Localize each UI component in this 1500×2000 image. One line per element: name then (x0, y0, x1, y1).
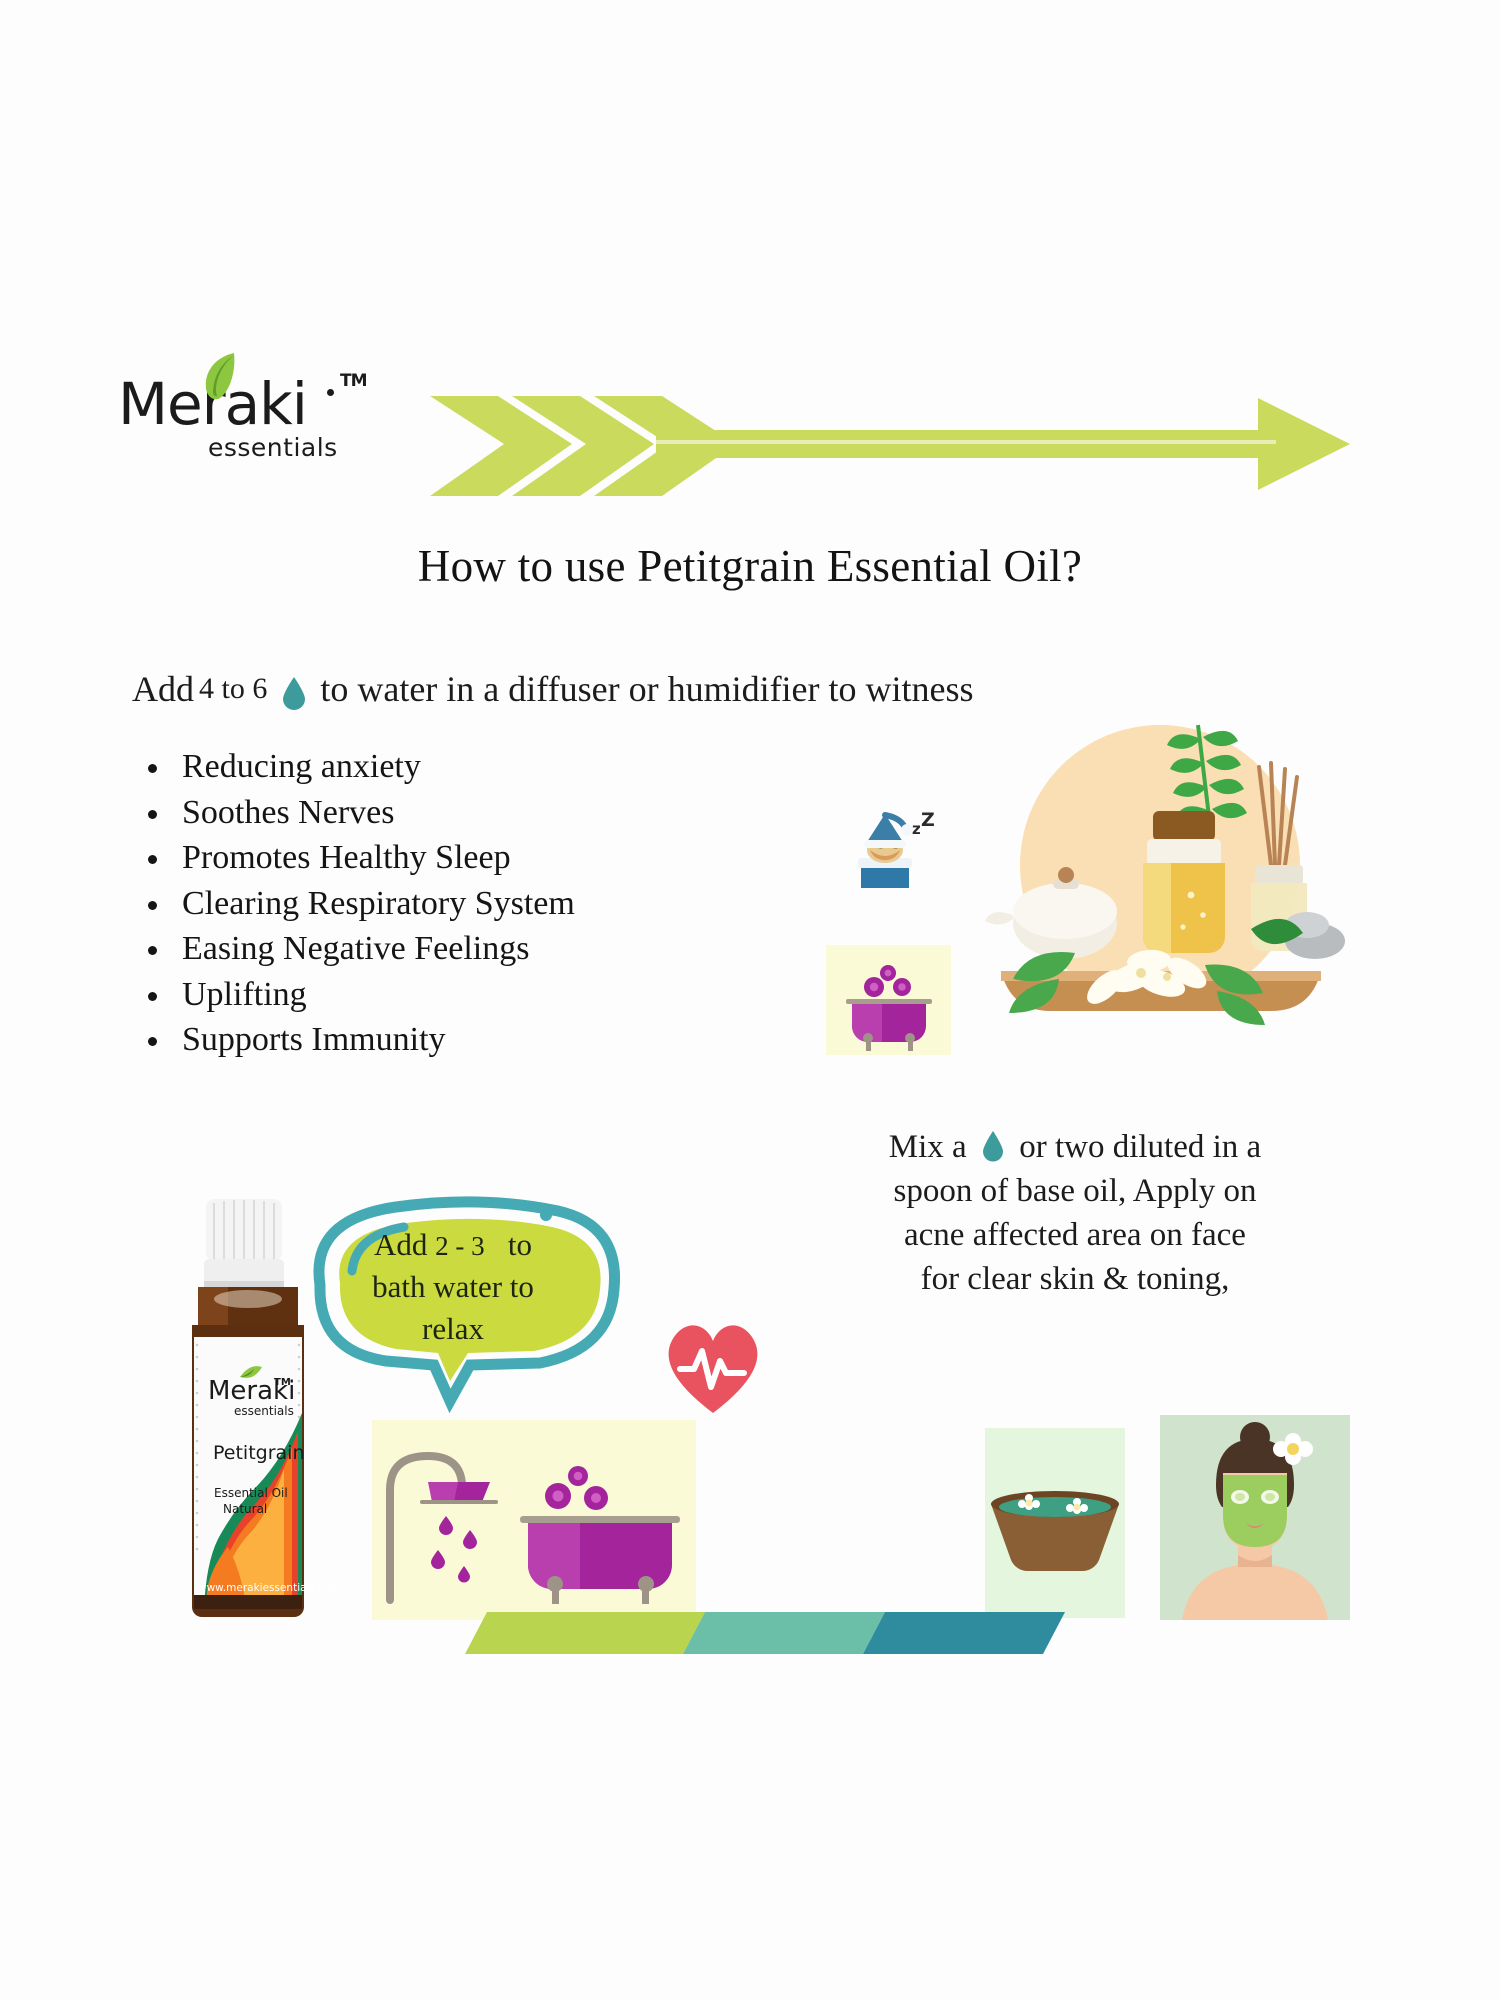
bowl-with-floating-flowers-icon (985, 1428, 1125, 1618)
diffuser-drop-amount: 4 to 6 (194, 672, 272, 706)
topical-instruction-line4: for clear skin & toning, (921, 1261, 1230, 1297)
diffuser-instruction: Add 4 to 6 to water in a diffuser or hum… (132, 668, 974, 710)
leaf-icon (200, 351, 238, 403)
diffuser-instruction-suffix: to water in a diffuser or humidifier to … (320, 668, 973, 710)
water-drop-icon (281, 676, 307, 710)
sleeping-person-in-bed-icon: z Z (845, 800, 940, 895)
benefits-list: Reducing anxiety Soothes Nerves Promotes… (140, 745, 575, 1064)
infographic-page: Meraki TM essentials How to u (0, 0, 1500, 2000)
list-item: Clearing Respiratory System (140, 882, 575, 926)
svg-text:Petitgrain: Petitgrain (213, 1442, 304, 1464)
list-item: Uplifting (140, 973, 575, 1017)
chevron-arrow-right-icon (420, 392, 1350, 502)
bottom-ribbon-banner (465, 1612, 1065, 1654)
page-title: How to use Petitgrain Essential Oil? (0, 540, 1500, 592)
logo-dot (327, 389, 334, 396)
list-item: Soothes Nerves (140, 791, 575, 835)
svg-text:essentials: essentials (234, 1404, 294, 1418)
water-drop-icon (981, 1130, 1005, 1162)
bathtub-with-flowers-icon (826, 945, 951, 1055)
bath-instruction-to: to (508, 1227, 532, 1262)
svg-text:z: z (912, 820, 921, 838)
svg-text:Z: Z (921, 809, 935, 831)
shower-and-bathtub-illustration (372, 1420, 696, 1620)
list-item: Supports Immunity (140, 1018, 575, 1062)
list-item: Reducing anxiety (140, 745, 575, 789)
topical-instruction-line1-after: or two diluted in a (1019, 1129, 1261, 1165)
bath-instruction-prefix: Add (374, 1227, 427, 1262)
bath-instruction: Add 2 - 3 to bath water to relax (318, 1224, 588, 1350)
bath-instruction-line3: relax (422, 1311, 484, 1346)
svg-text:www.merakiessentials.com: www.merakiessentials.com (198, 1582, 341, 1594)
trademark-symbol: TM (340, 373, 367, 390)
bath-instruction-line2: bath water to (372, 1269, 534, 1304)
topical-instruction-line1-before: Mix a (889, 1129, 967, 1165)
heart-with-heartbeat-icon (658, 1315, 768, 1420)
diffuser-instruction-prefix: Add (132, 668, 194, 710)
svg-text:TM: TM (274, 1377, 291, 1388)
topical-instruction: Mix a or two diluted in a spoon of base … (790, 1125, 1360, 1302)
list-item: Promotes Healthy Sleep (140, 836, 575, 880)
topical-instruction-line2: spoon of base oil, Apply on (894, 1173, 1257, 1209)
list-item: Easing Negative Feelings (140, 927, 575, 971)
spa-products-illustration (955, 715, 1355, 1095)
brand-tagline: essentials (208, 433, 338, 462)
svg-text:Natural: Natural (223, 1502, 267, 1516)
topical-instruction-line3: acne affected area on face (904, 1217, 1246, 1253)
brand-name-wordmark: Meraki TM (118, 375, 368, 433)
brand-logo: Meraki TM essentials (118, 375, 368, 485)
svg-text:Essential Oil: Essential Oil (214, 1486, 288, 1500)
bath-drop-amount: 2 - 3 (435, 1231, 485, 1261)
woman-with-face-mask-icon (1160, 1415, 1350, 1620)
